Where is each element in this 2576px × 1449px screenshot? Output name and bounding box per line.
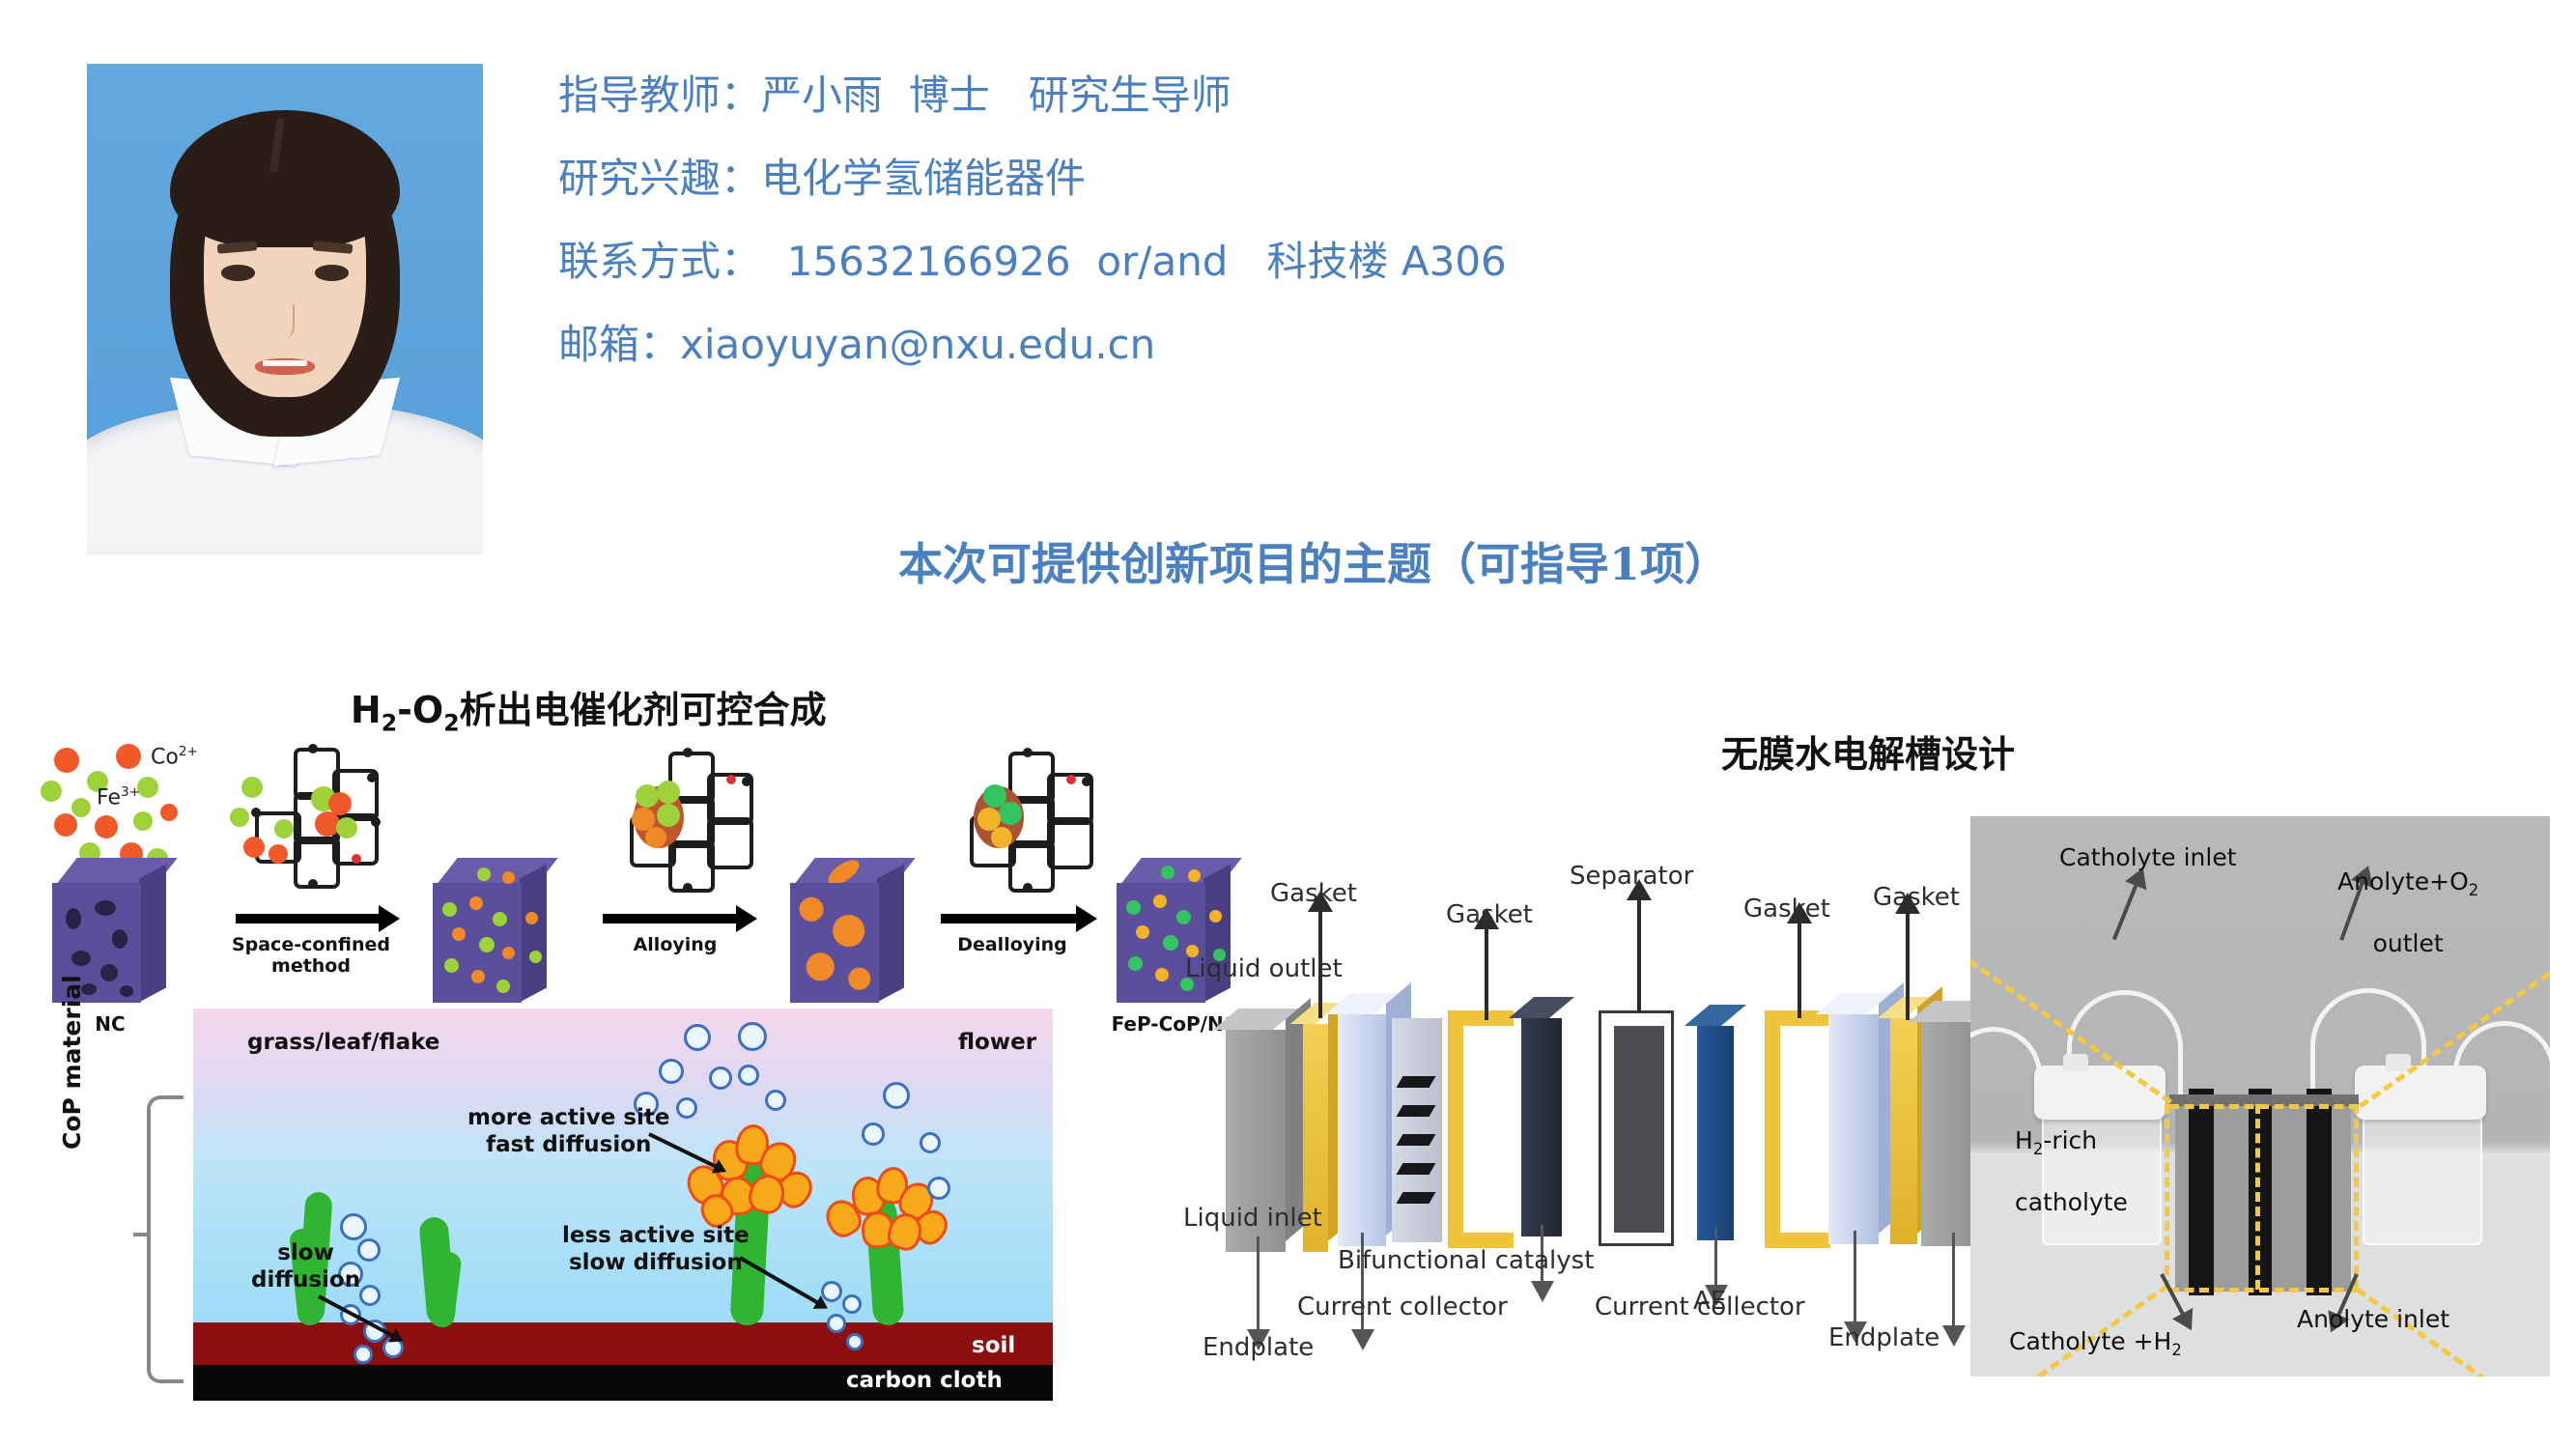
title-dash: - bbox=[397, 689, 412, 731]
cop-label-soil: soil bbox=[972, 1333, 1015, 1360]
label-collector-2: Current collector bbox=[1595, 1293, 1805, 1321]
photo-cell-bar-2 bbox=[2249, 1089, 2272, 1295]
leader-endplate-right bbox=[1952, 1233, 1955, 1327]
photo-label-anolyte-o2-outlet: Anolyte+O2 outlet bbox=[2337, 838, 2478, 959]
cop-side-label: CoP material bbox=[58, 975, 86, 1150]
cop-growth-diagram: grass/leaf/flake flower more active site… bbox=[193, 1009, 1053, 1401]
synthesis-scheme: Co2+ Fe3+ NC bbox=[27, 734, 1205, 1005]
electrolyzer-photo: Catholyte inlet Anolyte+O2 outlet H2-ric… bbox=[1970, 816, 2550, 1377]
section-title-electrolyzer: 无膜水电解槽设计 bbox=[1721, 724, 2015, 778]
h2rich-post: -rich bbox=[2043, 1126, 2097, 1154]
leader-endplate-left bbox=[1257, 1236, 1260, 1331]
cop-bracket-tick bbox=[133, 1233, 151, 1236]
portrait-photo bbox=[87, 64, 483, 554]
molecule-graphene-2 bbox=[614, 748, 788, 902]
label-endplate-left: Endplate bbox=[1203, 1333, 1314, 1362]
title-h: H bbox=[351, 689, 382, 731]
plate-serpentine-flowfield bbox=[1392, 1018, 1442, 1242]
anolyte-pre: Anolyte+O bbox=[2337, 867, 2469, 895]
cube-alloy bbox=[790, 858, 904, 1003]
label-gasket-1: Gasket bbox=[1270, 879, 1357, 908]
cube-precursor bbox=[433, 858, 547, 1003]
title-h-sub: 2 bbox=[382, 710, 397, 737]
label-liquid-inlet: Liquid inlet bbox=[1183, 1204, 1322, 1233]
portrait-teeth bbox=[263, 360, 306, 367]
photo-jar-right bbox=[2363, 1106, 2482, 1245]
title-o-sub: 2 bbox=[443, 710, 459, 737]
label-gasket-3: Gasket bbox=[1743, 895, 1830, 923]
electrolyzer-exploded-view: Gasket Gasket Separator Gasket Gasket Li… bbox=[1203, 840, 1985, 1381]
ion-co-text: Co bbox=[151, 745, 179, 769]
label-collector-1: Current collector bbox=[1297, 1293, 1508, 1321]
ion-fe-text: Fe bbox=[97, 785, 121, 810]
photo-dash-right bbox=[2354, 1104, 2359, 1290]
label-gasket-2: Gasket bbox=[1446, 900, 1533, 929]
cop-soil-layer bbox=[193, 1322, 1053, 1366]
photo-dash-top bbox=[2169, 1104, 2359, 1109]
anolyte-sub: 2 bbox=[2469, 881, 2479, 899]
info-line-interest: 研究兴趣：电化学氢储能器件 bbox=[558, 158, 2393, 199]
ion-label-cobalt: Co2+ bbox=[151, 744, 198, 769]
plate-gasket-4 bbox=[1890, 1018, 1917, 1244]
cop-annotation-less-active: less active site slow diffusion bbox=[562, 1223, 750, 1276]
arrow-label-space-confined: Space-confined method bbox=[216, 935, 406, 978]
photo-dash-bottom bbox=[2169, 1288, 2359, 1293]
project-headline: 本次可提供创新项目的主题（可指导1项） bbox=[898, 529, 1729, 593]
label-separator: Separator bbox=[1570, 862, 1693, 891]
catholyteh2-pre: Catholyte +H bbox=[2009, 1327, 2171, 1355]
ion-label-iron: Fe3+ bbox=[97, 784, 140, 810]
arrow-alloying bbox=[603, 914, 738, 923]
title-rest: 析出电催化剂可控合成 bbox=[460, 689, 827, 731]
photo-dash-left bbox=[2165, 1104, 2169, 1290]
cop-annotation-more-active: more active site fast diffusion bbox=[467, 1105, 670, 1158]
label-gasket-4: Gasket bbox=[1873, 883, 1960, 912]
leader-gasket-3 bbox=[1798, 922, 1801, 1018]
info-line-advisor: 指导教师：严小雨 博士 研究生导师 bbox=[558, 75, 2393, 116]
plate-current-collector-2 bbox=[1828, 1014, 1879, 1244]
leader-collector-2 bbox=[1854, 1231, 1856, 1323]
photo-label-anolyte-inlet: Anolyte inlet bbox=[2297, 1305, 2449, 1335]
cop-label-carbon-cloth: carbon cloth bbox=[846, 1368, 1003, 1395]
title-o: O bbox=[412, 689, 443, 731]
photo-arrow-catholyte-inlet bbox=[2112, 883, 2138, 940]
h2rich-pre: H bbox=[2015, 1126, 2033, 1154]
cop-annotation-slow-diffusion: slow diffusion bbox=[251, 1240, 360, 1293]
label-liquid-outlet: Liquid outlet bbox=[1185, 954, 1343, 983]
photo-label-catholyte-inlet: Catholyte inlet bbox=[2059, 843, 2237, 873]
cop-label-grass: grass/leaf/flake bbox=[247, 1030, 439, 1057]
cop-flower-cluster-1 bbox=[676, 1122, 821, 1229]
photo-label-catholyte-h2-outlet: Catholyte +H2 outlet bbox=[2009, 1297, 2182, 1377]
arrow-dealloying bbox=[941, 914, 1078, 923]
leader-gasket-2 bbox=[1485, 927, 1488, 1020]
ion-fe-charge: 3+ bbox=[121, 784, 140, 800]
molecule-graphene-3 bbox=[954, 748, 1128, 902]
cop-bracket bbox=[147, 1095, 184, 1383]
photo-label-h2-rich-catholyte: H2-rich catholyte bbox=[2015, 1096, 2128, 1218]
leader-separator bbox=[1637, 898, 1641, 1012]
ion-co-charge: 2+ bbox=[179, 744, 198, 759]
portrait-eye-right bbox=[315, 265, 349, 280]
label-endplate-right: Endplate bbox=[1828, 1323, 1939, 1352]
arrow-space-confined bbox=[236, 914, 381, 923]
plate-gasket-2 bbox=[1448, 1010, 1514, 1248]
molecule-graphene-1 bbox=[236, 744, 419, 898]
plate-current-collector-1 bbox=[1338, 1014, 1386, 1246]
leader-ae bbox=[1714, 1227, 1717, 1287]
h2rich-sub: 2 bbox=[2033, 1140, 2044, 1158]
portrait-eye-left bbox=[221, 265, 255, 280]
plate-bifunctional-catalyst bbox=[1521, 1018, 1562, 1236]
arrow-label-alloying: Alloying bbox=[593, 935, 757, 956]
plate-ae bbox=[1697, 1026, 1734, 1240]
label-catalyst: Bifunctional catalyst bbox=[1338, 1246, 1594, 1275]
anolyte-post: outlet bbox=[2373, 929, 2444, 957]
photo-dash-middle bbox=[2255, 1104, 2260, 1290]
catholyteh2-sub: 2 bbox=[2171, 1341, 2182, 1359]
arrow-label-dealloying: Dealloying bbox=[925, 935, 1099, 956]
photo-capnub-left bbox=[2063, 1054, 2088, 1071]
photo-tube-left-edge bbox=[1970, 1027, 2042, 1099]
h2rich-line2: catholyte bbox=[2015, 1188, 2128, 1216]
slide-canvas: 指导教师：严小雨 博士 研究生导师 研究兴趣：电化学氢储能器件 联系方式： 15… bbox=[0, 0, 2576, 1449]
plate-separator-frame bbox=[1599, 1010, 1674, 1246]
leader-gasket-4 bbox=[1906, 912, 1910, 1020]
info-line-email: 邮箱：xiaoyuyan@nxu.edu.cn bbox=[558, 325, 2393, 365]
plate-gasket-3 bbox=[1765, 1010, 1830, 1248]
instructor-info-block: 指导教师：严小雨 博士 研究生导师 研究兴趣：电化学氢储能器件 联系方式： 15… bbox=[558, 75, 2393, 408]
info-line-contact: 联系方式： 15632166926 or/and 科技楼 A306 bbox=[558, 241, 2393, 282]
cop-label-flower: flower bbox=[958, 1030, 1036, 1057]
photo-cell-bar-1 bbox=[2189, 1089, 2214, 1295]
portrait-nose bbox=[277, 304, 295, 339]
photo-cell-bar-3 bbox=[2307, 1089, 2332, 1295]
